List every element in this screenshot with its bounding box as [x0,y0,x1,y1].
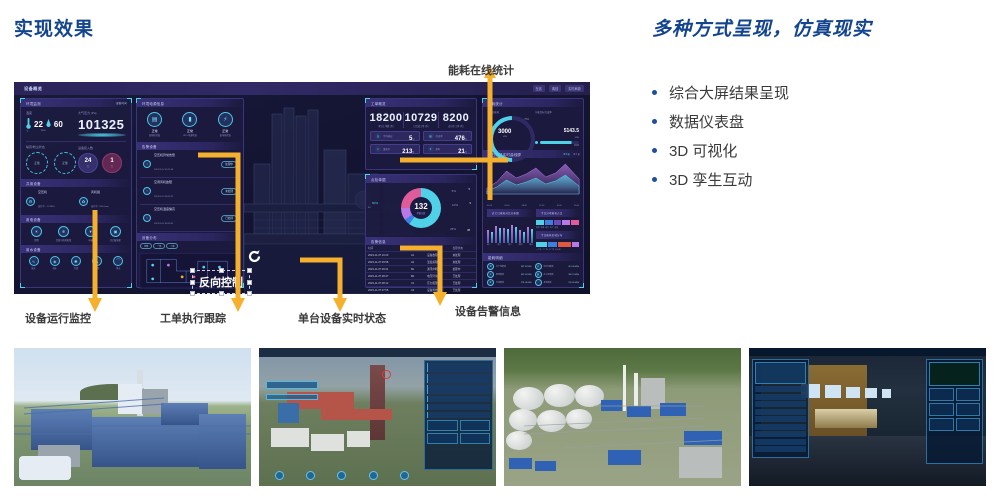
alarm-icon: ! [143,214,151,222]
heatmap-b [536,242,579,247]
kpi: 10729 已完成工单 (件) [404,112,439,128]
cell: A2 [409,259,425,266]
pipe-rack [14,348,251,486]
office-building [311,434,344,452]
alarm-name: 空调风机故障 [154,180,173,184]
table-row[interactable]: 2023-11-07 08:47 B2 电压异常 已处理 [366,273,476,280]
water-item[interactable]: ⌒ 排水 [113,256,123,270]
kv-stat: ✕ 超时 21件 [423,144,473,154]
panel-subtitle: 更新时间 [116,101,127,105]
legend-item: 三厂区 [549,248,554,251]
alarm-table: 时间 区域 类型 处理状态 2023-11-07 10:20 A1 设备故障 未… [366,245,476,293]
camera-tile[interactable] [956,403,980,416]
section-title-power: 用电设备 [26,217,41,222]
section-header-heat-a: 今日分项能耗占比 [536,209,579,217]
x-tick: 16:00 [557,205,562,207]
panel-row[interactable] [755,394,807,400]
power-item-label: 照明 [31,238,42,242]
toolbar-icon-settings[interactable] [400,471,409,480]
counter-alarm: 1 台 [102,153,122,173]
panel-row[interactable] [755,386,807,392]
cell: 2023-11-07 10:20 [366,252,409,259]
purewater-icon: ◈ [50,256,60,266]
energy-stat-name: 照明能耗 [496,273,504,276]
alarm-status-badge[interactable]: 未处理 [221,188,237,195]
alarm-icon: ! [143,187,151,195]
donut-seg-count-0: 80 [368,207,370,209]
section-title-energy-detail: 能耗明细 [488,255,503,260]
donut-center-caption: 单据总数 [417,211,426,215]
arrow-head-down [433,292,447,306]
radar-map-tile[interactable] [929,362,980,386]
panel-title: 环境监测 [26,101,41,106]
energy-stat-name: 生产线能耗 [496,265,506,268]
hvac-icon: ❄ [58,226,69,237]
kv-unit: 件 [465,152,467,154]
gauge-title: 今日总能耗 [487,110,531,114]
twin-side-panel[interactable] [424,360,493,470]
section-title-water: 用水设备 [26,247,41,252]
env-temp-label: 温度 [26,111,78,115]
energy-stat-value: 320.74 kWh [568,274,579,276]
water-item[interactable]: ∿ 软水 [29,256,39,270]
legend-item: 办公区 [555,248,560,251]
cell-status: 已处理 [451,273,476,280]
panel-row[interactable] [427,412,490,418]
camera-tile[interactable] [929,403,953,416]
other-energy-icon: ◌ [535,279,542,286]
cell: 2023-11-07 09:31 [366,266,409,273]
humidity-drop-icon [46,118,51,129]
section-header-bar-chart: 近七日能耗对比分析图 [487,209,533,217]
energy-stat-value: 612.08 kWh [568,266,579,268]
energy-stat-row: ▥ 办公区能耗 320.74 kWh [535,271,580,278]
panel-tile[interactable] [427,433,457,444]
alarm-name: 空压机异常告警 [154,153,175,157]
energy-stat-row: ◌ 其他能耗 155.40 kWh [535,279,580,286]
cell: C1 [409,280,425,287]
env-humidity-value: 60 [54,120,63,129]
section-title-common: 共用设备 [26,181,41,186]
x-tick: 04:00 [504,205,509,207]
energy-stat-row: ⚙ 生产线能耗 987.32 kWh [487,263,532,270]
toolbar-icon-devices[interactable] [306,471,315,480]
panel-row[interactable] [755,439,807,445]
alarm-status-badge[interactable]: 处理中 [221,161,237,168]
panel-row[interactable] [755,401,807,407]
kv-label: 待派单 [436,134,443,138]
map-filter-chip[interactable]: 一层 [153,243,165,249]
legend-item: 用水量 [573,153,580,156]
resize-handle-sw[interactable] [190,291,195,296]
power-item[interactable]: ☀ 照明 [31,226,42,242]
kv-unit: 件 [412,152,414,154]
heat-b-title: 今日能耗区域分布 [541,233,563,237]
cell: 通讯中断 [425,266,450,273]
section-header-water: 用水设备 [21,245,131,253]
panel-row[interactable] [755,416,807,422]
bullet-label: 3D 孪生互动 [669,169,752,190]
cell: B1 [409,266,425,273]
thumbnail-3d-plant-aerial[interactable] [14,348,251,486]
office-building [347,431,371,448]
bar-chart-title: 近七日能耗对比分析图 [492,211,519,215]
kv-label: 平均响应 [383,134,393,138]
info-callout-panel[interactable] [266,381,318,389]
heatmap-a [536,220,579,225]
area-chart [483,158,583,200]
toolbar-icon-overview[interactable] [275,471,284,480]
kpi: 18200 累计工单数 (件) [369,112,404,128]
annotation-top-label: 能耗在线统计 [448,62,514,78]
production-icon: ⚙ [487,263,494,270]
refresh-sync-icon[interactable] [247,249,262,264]
alarm-time: 2023-11-07 08:52:23 [154,196,173,198]
cell: 设备离线 [425,287,450,294]
section-header-alarm: 告警设备 [137,142,243,150]
window-panel [865,388,877,398]
x-tick: 20:00 [574,205,579,207]
status-chip-online[interactable]: 在线 [533,85,545,92]
counter-alarm-unit: 台 [111,164,113,168]
donut-seg-percent-3: 25% [450,227,456,231]
alarm-icon: ! [143,160,151,168]
gauge-ring-noise: 正常 [26,152,48,174]
warehouse-topbar [749,348,986,356]
thumbnail-3d-indoor-warehouse[interactable] [749,348,986,486]
donut-seg-count-1: 5 [469,188,470,191]
energy-stat-row: ☀ 照明能耗 431.55 kWh [487,271,532,278]
office-building [271,428,309,447]
thumbnail-gallery [14,348,986,486]
resize-handle-nw[interactable] [190,268,195,273]
list-item[interactable]: ⚙ 空压机 运行中 · 1.2 MPa [26,190,73,212]
legend-item: 照明 [536,226,540,229]
common-item-name: 空压机 [38,190,55,194]
window-panel [825,385,842,397]
panel-row[interactable] [427,385,490,394]
donut-seg-count-2: 9 [470,202,471,205]
page-title-right: 多种方式呈现，仿真现实 [652,14,872,41]
legend-item: 二厂区 [542,248,547,251]
section-header-power: 用电设备 [21,215,131,223]
kpi-value: 8200 [439,112,473,124]
power-item[interactable]: ▼ 电梯 [85,226,96,242]
panel-header: 点检单据 [366,175,476,183]
office-energy-icon: ▥ [535,271,542,278]
warehouse-right-panel[interactable] [926,359,983,464]
donut-seg-percent-0: 60% [372,201,378,205]
dashboard-screenshot: 设备概览 在线 离线 实时刷新 [14,82,590,294]
panel-row[interactable] [755,446,807,452]
resize-handle-ne[interactable] [247,268,252,273]
timeout-icon: ✕ [428,146,434,152]
donut-seg-percent-1: 5% [452,189,456,193]
twin-topbar [259,348,496,357]
energy-gauge: 3000 kWh 75% [487,116,531,142]
window-panel [846,387,860,398]
kv-value: 213 [402,149,412,155]
progress-value: 5143.5 [564,128,579,134]
list-item[interactable]: ! 空压机异常告警 2023-11-07 09:15:08 处理中 [140,151,240,178]
bullet-dot-icon [652,177,657,182]
twin-bottom-toolbar[interactable] [264,472,420,484]
map-filter-chip[interactable]: 全部 [140,243,152,249]
water-item-label: 消防 [92,266,102,270]
kv-label: 维修中 [383,147,390,151]
table-row[interactable]: 2023-11-07 08:12 C1 压力报警 已处理 [366,280,476,287]
page-title-left: 实现效果 [14,14,94,41]
kpi-caption: 累计工单数 (件) [369,124,403,128]
power-item-label: 空调与新风机组 [56,238,71,242]
x-tick: 08:00 [522,205,527,207]
panel-title: 环境电源信息 [142,101,164,106]
toolbar-icon-energy[interactable] [337,471,346,480]
env-pressure-label: 大气压力 (Pa) [78,111,126,115]
distribution-box-icon: ▤ [147,112,162,127]
bullet-label: 综合大屏结果呈现 [669,82,789,103]
corner-deco [579,283,584,288]
bullet-label: 3D 可视化 [669,140,737,161]
x-tick: 12:00 [539,205,544,207]
ring-noise-value: 正常 [34,161,39,165]
map-filter-chip[interactable]: 二层 [166,243,178,249]
power-stat: ▮ 正常 UPS 电源状态 [182,112,197,137]
annotation-label-device-status: 单台设备实时状态 [298,310,386,326]
panel-energy: 能耗统计 今日总能耗 3000 kWh 75% 节能目标完成率 5143.5 [482,98,584,288]
progress-unit: kWh [535,137,579,139]
water-item[interactable]: ◈ 纯水 [50,256,60,270]
resize-handle-s[interactable] [219,291,224,296]
corner-deco [20,98,25,103]
section-header-map: 设备分布 [137,233,243,241]
stat-caption: UPS 电源状态 [182,133,197,137]
donut-center-value: 132 [414,202,427,211]
dispatch-icon: ▤ [428,133,434,139]
energy-stat-row: ❄ 空调能耗 278.16 kWh [487,279,532,286]
x-tick: 周三 [508,243,512,246]
switchboard-icon: ▣ [110,226,121,237]
panel-work-orders: 环境电源信息 ▤ 正常 配电柜状态 ▮ 正常 UPS 电源状态 ⚡ 正常 发电机… [136,98,244,288]
legend-item: 一厂区 [536,248,541,251]
donut-seg-percent-2: 10% [452,203,458,207]
thumbnail-3d-digital-twin[interactable] [259,348,496,486]
bullet-dot-icon [652,148,657,153]
section-title-alarm: 告警设备 [142,144,157,149]
pressure-glow-deco [78,133,126,137]
panel-row[interactable] [755,424,807,430]
repair-icon: ▭ [375,146,381,152]
cell: 2023-11-07 07:55 [366,287,409,294]
refresh-chip[interactable]: 实时刷新 [565,85,584,92]
alarm-name: 空压机温度偏高 [154,207,175,211]
reverse-control-label: 反向控制 [199,277,243,289]
section-title-alarm-table: 告警信息 [371,239,386,244]
energy-stat-row: ◎ 空压机能耗 612.08 kWh [535,263,580,270]
list-item[interactable]: ! 空压机温度偏高 2023-11-07 08:30:41 已处理 [140,205,240,232]
camera-tile[interactable] [956,388,980,401]
blue-silo [278,403,299,422]
power-item[interactable]: ❄ 空调与新风机组 [56,226,71,242]
donut-seg-count-3: 38 [467,229,470,232]
panel-environment: 环境监测 更新时间 温度 22 60 [20,98,132,288]
resize-handle-w[interactable] [190,280,195,285]
table-row[interactable]: 2023-11-07 09:58 A2 温度超限 未处理 [366,259,476,266]
gauge-percent: 75% [524,118,529,121]
power-stat: ⚡ 正常 发电机状态 [218,112,233,137]
cell: 2023-11-07 08:47 [366,273,409,280]
heat-a-title: 今日分项能耗占比 [541,211,563,215]
panel-row[interactable] [427,404,490,410]
panel-title: 能耗统计 [488,101,503,106]
cell: A1 [409,252,425,259]
info-callout-panel-2[interactable] [266,394,318,400]
corner-deco [127,283,132,288]
legend-item: 空调 [541,226,545,229]
panel-preview-tile[interactable] [755,362,806,384]
panel-row[interactable] [427,396,490,402]
elevator-icon: ▼ [85,226,96,237]
corner-deco [472,283,477,288]
cooling-icon: ✺ [71,256,81,266]
annotation-label-work-order: 工单执行跟踪 [160,310,226,326]
lighting-energy-icon: ☀ [487,271,494,278]
status-chip-offline[interactable]: 离线 [549,85,561,92]
panel-tile[interactable] [460,420,490,431]
drain-icon: ⌒ [113,256,123,266]
water-item-label: 纯水 [50,266,60,270]
water-item-label: 冷却 [71,266,81,270]
section-title-map: 设备分布 [142,235,157,240]
kv-label: 超时 [436,147,441,151]
panel-tile[interactable] [427,420,457,431]
camera-tile[interactable] [929,388,953,401]
dashboard-topbar: 设备概览 在线 离线 实时刷新 [14,82,590,95]
hvac-energy-icon: ❄ [487,279,494,286]
clock-icon: ◷ [375,133,381,139]
panel-tile[interactable] [460,433,490,444]
gauge-ring-dust: 正常 [54,152,76,174]
cell: B2 [409,273,425,280]
donut-chart: 132 单据总数 60% 80 5% 5 10% 9 25% 38 [366,183,476,237]
cell-status: 未处理 [451,259,476,266]
panel-row[interactable] [427,374,490,383]
ring-dust-value: 正常 [62,161,67,165]
table-row[interactable]: 2023-11-07 10:20 A1 设备故障 未处理 [366,252,476,259]
legend-item: 动力 [545,226,549,229]
panel-header: 能耗统计 [483,99,583,107]
panel-title: 点检单据 [371,177,386,182]
donut-center: 132 单据总数 [401,188,441,228]
resize-handle-se[interactable] [247,291,252,296]
panel-header: 环境监测 更新时间 [21,99,131,107]
progress-title: 节能目标完成率 [535,110,579,114]
energy-stat-name: 其他能耗 [544,281,552,284]
common-item-meta: 运行中 · 1.2 MPa [38,206,55,208]
softwater-icon: ∿ [29,256,39,266]
ups-battery-icon: ▮ [182,112,197,127]
kpi-value: 10729 [404,112,438,124]
dashboard-topbar-actions: 在线 离线 实时刷新 [533,85,585,92]
warehouse-left-panel[interactable] [752,359,809,458]
panel-row[interactable] [755,431,807,437]
resize-handle-n[interactable] [219,268,224,273]
panel-row[interactable] [755,409,807,415]
common-item-meta: 运行中 · 850 r/min [91,206,109,208]
x-tick: 周二 [498,243,502,246]
gauge-unit: kWh [503,136,507,138]
compressor-energy-icon: ◎ [535,263,542,270]
alarm-time: 2023-11-07 08:30:41 [154,223,173,225]
table-row[interactable]: 2023-11-07 07:55 C2 设备离线 已处理 [366,287,476,294]
reverse-control-callout[interactable]: 反向控制 [192,270,250,294]
alarm-status-badge[interactable]: 已处理 [221,215,237,222]
stat-caption: 发电机状态 [218,133,233,137]
camera-tile[interactable] [956,418,980,431]
x-tick: 周一 [487,243,491,246]
corner-deco [365,174,370,179]
list-item[interactable]: ! 空调风机故障 2023-11-07 08:52:23 未处理 [140,178,240,205]
section-header-energy-detail: 能耗明细 [483,253,583,261]
thermometer-icon [26,118,31,129]
counter-total-unit: 台 [87,164,89,168]
cell: C2 [409,287,425,294]
panel-order-kpi: 工单概览 18200 累计工单数 (件) 10729 已完成工单 (件) 820… [365,98,477,170]
dashboard-title: 设备概览 [24,86,42,92]
pipe-network [504,348,741,486]
panel-inspection: 点检单据 132 单据总数 60% 80 5% 5 10% 9 25% 38 告… [365,174,477,288]
cell: 设备故障 [425,252,450,259]
energy-stat-name: 空压机能耗 [544,265,554,268]
camera-tile[interactable] [929,418,953,431]
power-item-label: 动力配电柜 [110,238,121,242]
cell: 压力报警 [425,280,450,287]
legend-item: 其他 [554,226,558,229]
x-tick: 00:00 [487,205,492,207]
corner-deco [482,98,487,103]
energy-stat-name: 空调能耗 [496,281,504,284]
counter-total: 24 台 [78,153,98,173]
water-item-label: 排水 [113,266,123,270]
resize-handle-e[interactable] [247,280,252,285]
progress-bar [535,141,579,144]
list-item[interactable]: ✿ 风机组 运行中 · 850 r/min [79,190,126,212]
legend-item: 用电量 [563,153,570,156]
toolbar-icon-alarm[interactable] [369,471,378,480]
lighting-icon: ☀ [31,226,42,237]
panel-title: 工单概览 [371,101,386,106]
annotation-label-device-alarm: 设备告警信息 [455,303,521,319]
feature-bullet-list: 综合大屏结果呈现 数据仪表盘 3D 可视化 3D 孪生互动 [652,78,982,194]
thumbnail-3d-refinery-aerial[interactable] [504,348,741,486]
kv-value: 21 [458,149,465,155]
red-roof-shed [321,409,392,420]
power-item[interactable]: ▣ 动力配电柜 [110,226,121,242]
list-item: 3D 孪生互动 [652,165,982,194]
corner-deco [136,98,141,103]
list-item: 3D 可视化 [652,136,982,165]
panel-row[interactable] [427,363,490,372]
table-row[interactable]: 2023-11-07 09:31 B1 通讯中断 处理中 [366,266,476,273]
stat-caption: 配电柜状态 [147,133,162,137]
water-item[interactable]: ✺ 冷却 [71,256,81,270]
env-ring-section-label: 噪音/粉尘状态 [26,145,78,149]
corner-deco [20,283,25,288]
water-item[interactable]: ▲ 消防 [92,256,102,270]
progress-track [540,141,579,144]
list-item: 综合大屏结果呈现 [652,78,982,107]
energy-stat-value: 278.16 kWh [521,282,532,284]
